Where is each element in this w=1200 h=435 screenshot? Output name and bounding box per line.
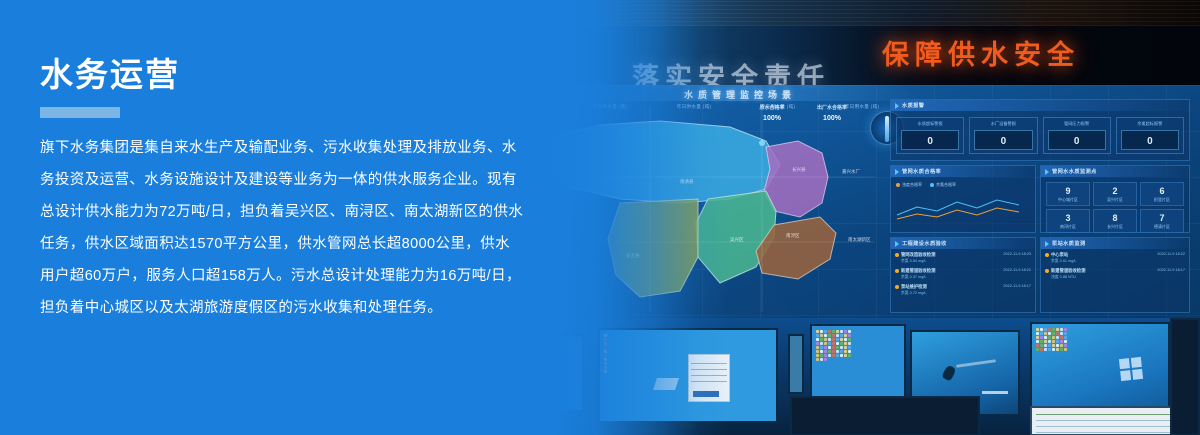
log-metric: 余氯 0.37 mg/L <box>901 275 935 280</box>
map-marker-label: 嘉兴水厂 <box>842 169 860 175</box>
map-district-label: 吴兴区 <box>730 237 744 243</box>
log-name: 管网改造验收检测 <box>901 252 935 258</box>
legend-item: 余氯合格率 <box>930 182 956 188</box>
panel-header: 泵站水质监测 <box>1041 238 1189 249</box>
status-dot-icon <box>895 253 899 257</box>
site-label: 南浔片区 <box>1047 224 1089 230</box>
water-operations-banner: 落实安全责任 保障供水安全 水质管理监控场景 水厂出厂水量 (万吨) 今日供水量… <box>0 0 1200 435</box>
screen-caption-bar <box>982 391 1008 394</box>
alarm-cell: 水厂设备警报 0 <box>969 117 1037 154</box>
log-metric: 浊度 0.88 NTU <box>1051 275 1085 280</box>
alarm-value-box: 0 <box>1048 130 1106 150</box>
log-metric: 余氯 0.54 mg/L <box>901 259 935 264</box>
legend-item: 浊度合格率 <box>896 182 922 188</box>
alarm-value-box: 0 <box>1121 130 1179 150</box>
site-cell: 6 织里片区 <box>1140 182 1184 206</box>
log-time: 2022-11-9 18:17 <box>1003 284 1031 288</box>
site-label: 德清片区 <box>1141 224 1183 230</box>
alarm-value: 0 <box>1147 136 1153 147</box>
right-edge-rack <box>1170 318 1200 435</box>
log-list: 中心泵站 余氯 0.61 mg/L 2022-11-9 18:22 新建管道验收… <box>1041 249 1189 287</box>
alarm-cell: 管网压力报警 0 <box>1043 117 1111 154</box>
panel-title: 管网水水质监测点 <box>1052 168 1097 175</box>
site-count: 3 <box>1047 213 1089 223</box>
legend-label: 余氯合格率 <box>936 182 956 188</box>
log-time: 2022-11-9 18:22 <box>1157 252 1185 256</box>
alarm-caption: 水厂设备警报 <box>970 121 1036 127</box>
log-left: 管网改造验收检测 余氯 0.54 mg/L <box>895 252 935 264</box>
log-metric: 余氯 0.61 mg/L <box>1051 259 1077 264</box>
log-left: 泵站维护检测 余氯 0.72 mg/L <box>895 284 927 296</box>
site-count: 6 <box>1141 186 1183 196</box>
site-label: 长兴片区 <box>1094 224 1136 230</box>
alarm-value: 0 <box>1074 136 1080 147</box>
description-line: 任务，供水区域面积达1570平方公里，供水管网总长超8000公里，供水 <box>40 228 560 260</box>
log-time: 2022-11-9 18:23 <box>1003 252 1031 256</box>
report-laptop-screen <box>1030 406 1180 435</box>
log-row: 中心泵站 余氯 0.61 mg/L 2022-11-9 18:22 <box>1045 252 1185 264</box>
chevron-right-icon <box>895 241 899 247</box>
description-line: 担负着中心城区以及太湖旅游度假区的污水收集和处理任务。 <box>40 292 560 324</box>
site-cell: 8 长兴片区 <box>1093 209 1137 233</box>
panel-monitor-sites: 管网水水质监测点 9 中心城片区 2 吴兴片区 6 织里片 <box>1040 165 1190 233</box>
map-marker-point <box>759 140 765 146</box>
rate-line-chart <box>891 193 1037 223</box>
site-cell: 7 德清片区 <box>1140 209 1184 233</box>
site-count: 7 <box>1141 213 1183 223</box>
log-left: 新建管道验收检测 余氯 0.37 mg/L <box>895 268 935 280</box>
description-line: 总设计供水能力为72万吨/日，担负着吴兴区、南浔区、南太湖新区的供水 <box>40 196 560 228</box>
log-name: 中心泵站 <box>1051 252 1077 258</box>
log-row: 新建管道验收检测 浊度 0.88 NTU 2022-11-9 18:17 <box>1045 268 1185 280</box>
status-dot-icon <box>895 285 899 289</box>
panel-title: 工程建设水质验收 <box>902 240 947 247</box>
led-slogan-right: 保障供水安全 <box>882 33 1080 72</box>
panel-title: 水质报警 <box>902 102 924 109</box>
map-marker-label: 南太湖新区 <box>848 237 871 243</box>
site-label: 吴兴片区 <box>1094 197 1136 203</box>
map-district-label: 长兴县 <box>792 167 806 173</box>
compass-needle <box>885 116 889 142</box>
status-dot-icon <box>895 269 899 273</box>
panel-header: 工程建设水质验收 <box>891 238 1035 249</box>
site-grid: 9 中心城片区 2 吴兴片区 6 织里片区 3 <box>1041 177 1189 238</box>
site-label: 中心城片区 <box>1047 197 1089 203</box>
panel-header: 管网水质合格率 <box>891 166 1035 177</box>
description-line: 务投资及运营、水务设施设计及建设等业务为一体的供水服务企业。现有 <box>40 164 560 196</box>
panel-pipe-quality-rate: 管网水质合格率 浊度合格率 余氯合格率 <box>890 165 1036 233</box>
left-text-panel: 水务运营 旗下水务集团是集自来水生产及输配业务、污水收集处理及排放业务、水 务投… <box>0 0 600 435</box>
panel-title: 泵站水质监测 <box>1052 240 1086 247</box>
alarm-grid: 水质超标警报 0 水厂设备警报 0 管网压力报警 <box>891 111 1189 160</box>
panel-construction-acceptance: 工程建设水质验收 管网改造验收检测 余氯 0.54 mg/L 202 <box>890 237 1036 313</box>
alarm-caption: 水质超标警报 <box>897 121 963 127</box>
description-block: 旗下水务集团是集自来水生产及输配业务、污水收集处理及排放业务、水 务投资及运营、… <box>40 132 560 324</box>
log-row: 管网改造验收检测 余氯 0.54 mg/L 2022-11-9 18:23 <box>895 252 1031 264</box>
site-count: 2 <box>1094 186 1136 196</box>
desktop-icon-grid[interactable] <box>816 330 851 361</box>
log-list: 管网改造验收检测 余氯 0.54 mg/L 2022-11-9 18:23 新建… <box>891 249 1035 303</box>
log-left: 新建管道验收检测 浊度 0.88 NTU <box>1045 268 1085 280</box>
legend-swatch <box>930 183 934 187</box>
chevron-right-icon <box>1045 169 1049 175</box>
site-count: 8 <box>1094 213 1136 223</box>
log-left: 中心泵站 余氯 0.61 mg/L <box>1045 252 1077 264</box>
alarm-value-box: 0 <box>901 130 959 150</box>
status-dot-icon <box>1045 253 1049 257</box>
log-row: 泵站维护检测 余氯 0.72 mg/L 2022-11-9 18:17 <box>895 284 1031 296</box>
alarm-value-box: 0 <box>974 130 1032 150</box>
chevron-right-icon <box>895 169 899 175</box>
diver-figure-icon <box>941 364 956 381</box>
alarm-cell: 水质超标警报 0 <box>896 117 964 154</box>
alarm-caption: 余氯超标报警 <box>1117 121 1183 127</box>
site-cell: 2 吴兴片区 <box>1093 182 1137 206</box>
title-underline-bar <box>40 107 120 118</box>
alarm-caption: 管网压力报警 <box>1044 121 1110 127</box>
legend-label: 浊度合格率 <box>902 182 922 188</box>
status-dot-icon <box>1045 269 1049 273</box>
panel-water-quality-alarm: 水质报警 水质超标警报 0 水厂设备警报 0 <box>890 99 1190 161</box>
desk-shadow-panel <box>790 396 980 435</box>
log-name: 新建管道验收检测 <box>1051 268 1085 274</box>
alarm-value: 0 <box>1001 136 1007 147</box>
site-cell: 3 南浔片区 <box>1046 209 1090 233</box>
panel-pump-station-quality: 泵站水质监测 中心泵站 余氯 0.61 mg/L 2022-11-9 <box>1040 237 1190 313</box>
log-name: 新建管道验收检测 <box>901 268 935 274</box>
alarm-value: 0 <box>927 136 933 147</box>
map-district-label: 南浔区 <box>786 233 800 239</box>
page-title: 水务运营 <box>40 56 600 94</box>
description-line: 用户超60万户，服务人口超158万人。污水总设计处理能力为16万吨/日， <box>40 260 560 292</box>
alarm-cell: 余氯超标报警 0 <box>1116 117 1184 154</box>
site-cell: 9 中心城片区 <box>1046 182 1090 206</box>
log-row: 新建管道验收检测 余氯 0.37 mg/L 2022-11-9 18:21 <box>895 268 1031 280</box>
panel-title: 管网水质合格率 <box>902 168 941 175</box>
chart-legend: 浊度合格率 余氯合格率 <box>891 177 1035 193</box>
log-time: 2022-11-9 18:17 <box>1157 268 1185 272</box>
log-time: 2022-11-9 18:21 <box>1003 268 1031 272</box>
bubble-trail <box>956 359 996 368</box>
log-metric: 余氯 0.72 mg/L <box>901 291 927 296</box>
chevron-right-icon <box>895 103 899 109</box>
panel-header: 水质报警 <box>891 100 1189 111</box>
description-line: 旗下水务集团是集自来水生产及输配业务、污水收集处理及排放业务、水 <box>40 132 560 164</box>
side-monitor-sliver <box>788 334 804 394</box>
panel-header: 管网水水质监测点 <box>1041 166 1189 177</box>
windows-desktop-icons[interactable] <box>1036 328 1067 351</box>
site-count: 9 <box>1047 186 1089 196</box>
site-label: 织里片区 <box>1141 197 1183 203</box>
windows-logo-icon <box>1119 357 1143 381</box>
chevron-right-icon <box>1045 241 1049 247</box>
dashboard-side-panels: 水质报警 水质超标警报 0 水厂设备警报 0 <box>890 99 1190 321</box>
legend-swatch <box>896 183 900 187</box>
log-name: 泵站维护检测 <box>901 284 927 290</box>
